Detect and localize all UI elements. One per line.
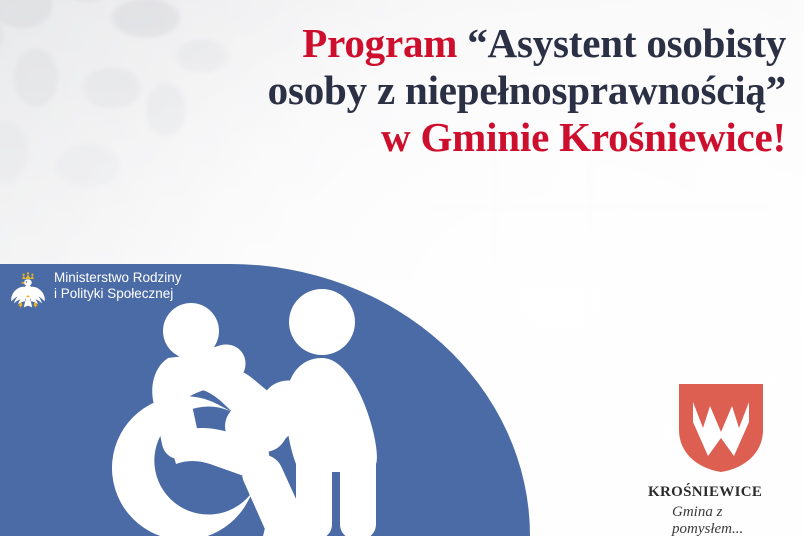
title-line-2: osoby z niepełnosprawnością”	[150, 67, 786, 114]
poster-canvas: Program “Asystent osobisty osoby z niepe…	[0, 0, 804, 536]
title-line-1: Program “Asystent osobisty	[150, 20, 786, 67]
polish-eagle-emblem-icon	[9, 270, 47, 314]
municipality-tagline: Gmina z pomysłem...	[672, 504, 796, 536]
title-line-1-red: Program	[302, 20, 457, 66]
krosniewice-coat-of-arms-block: KROŚNIEWICE Gmina z pomysłem...	[646, 382, 796, 536]
ministry-name-line-1: Ministerstwo Rodziny	[54, 270, 182, 286]
title-line-1-navy: “Asystent osobisty	[457, 20, 786, 66]
krosniewice-shield-icon	[646, 382, 796, 474]
municipality-name: KROŚNIEWICE	[648, 484, 796, 501]
wheelchair-handshake-icon	[106, 286, 406, 536]
title-line-3: w Gminie Krośniewice!	[150, 114, 786, 161]
page-title: Program “Asystent osobisty osoby z niepe…	[150, 20, 786, 161]
